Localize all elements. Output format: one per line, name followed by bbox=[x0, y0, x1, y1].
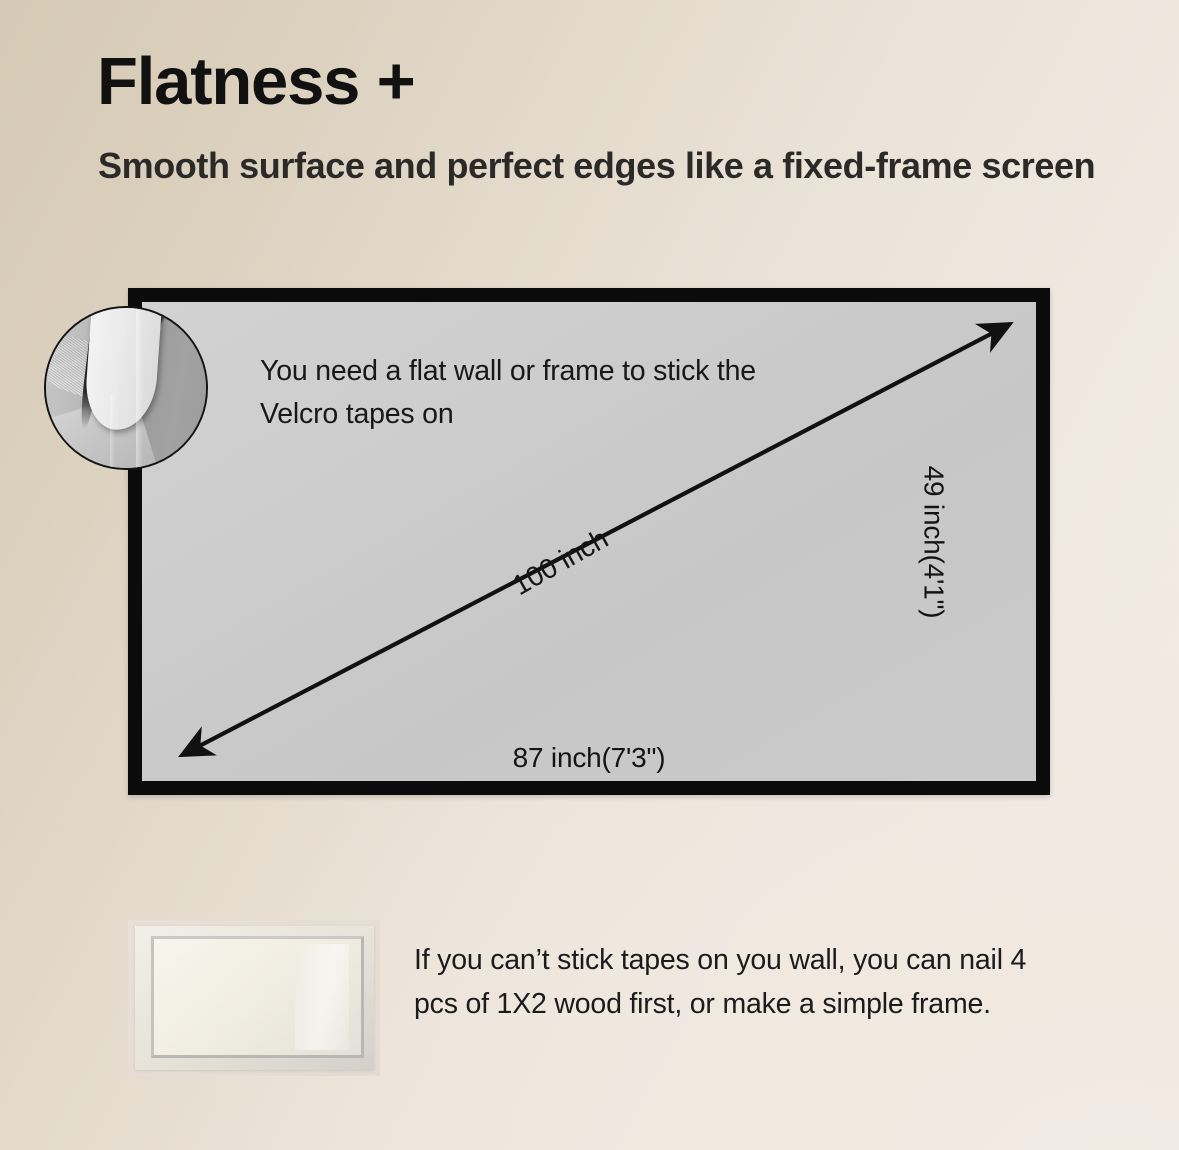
velcro-tape-closeup-photo bbox=[44, 306, 208, 470]
frame-photo-rail bbox=[151, 936, 364, 1058]
frame-photo-sheen bbox=[295, 944, 349, 1051]
page-title: Flatness + bbox=[97, 48, 415, 115]
velcro-peeling-flap bbox=[83, 306, 163, 432]
velcro-seam-right bbox=[136, 308, 142, 468]
velcro-seam-lower bbox=[110, 394, 115, 468]
diagonal-dimension-label: 100 inch bbox=[507, 523, 614, 602]
flatness-promo-page: Flatness + Smooth surface and perfect ed… bbox=[0, 0, 1179, 1150]
velcro-photo-base bbox=[46, 308, 206, 468]
height-dimension-label: 49 inch(4'1") bbox=[918, 465, 950, 618]
screen-instruction-text: You need a flat wall or frame to stick t… bbox=[260, 350, 820, 437]
page-subtitle: Smooth surface and perfect edges like a … bbox=[98, 142, 1138, 191]
screen-surface: You need a flat wall or frame to stick t… bbox=[142, 302, 1036, 781]
projector-screen-illustration: You need a flat wall or frame to stick t… bbox=[128, 288, 1050, 795]
alternative-mounting-note: If you can’t stick tapes on you wall, yo… bbox=[414, 938, 1074, 1027]
frame-photo-outer bbox=[135, 926, 374, 1070]
width-dimension-label: 87 inch(7'3") bbox=[142, 742, 1036, 774]
wood-frame-photo bbox=[128, 920, 380, 1076]
